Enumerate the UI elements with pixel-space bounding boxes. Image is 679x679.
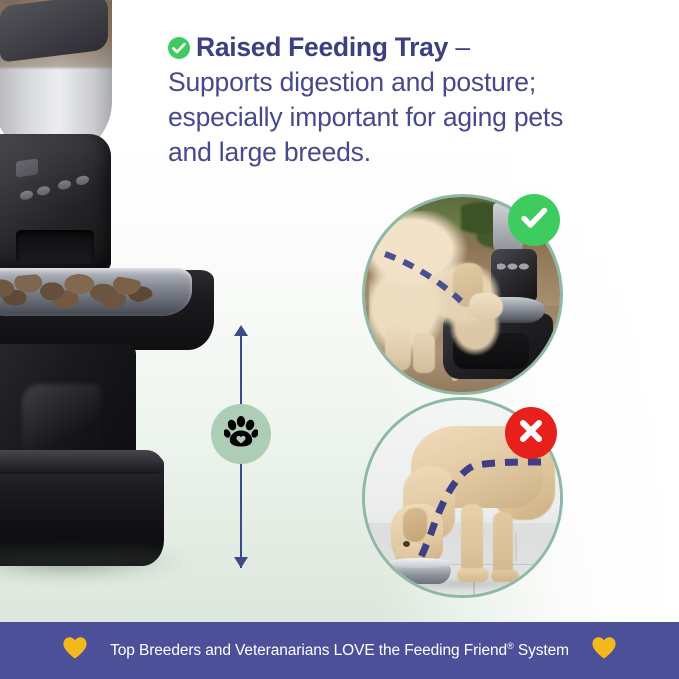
banner-text-after: System bbox=[514, 642, 569, 659]
endorsement-banner: Top Breeders and Veteranarians LOVE the … bbox=[0, 622, 679, 679]
headline-dash: – bbox=[448, 32, 470, 62]
paw-print-icon bbox=[224, 416, 258, 453]
arrow-head-down-icon bbox=[234, 557, 248, 568]
control-button bbox=[76, 175, 89, 186]
base-tray-lip bbox=[0, 450, 164, 474]
headline-body-text: Supports digestion and posture; especial… bbox=[168, 65, 588, 170]
headline-line: Raised Feeding Tray – bbox=[168, 30, 588, 64]
banner-text-before: Top Breeders and Veteranarians LOVE the … bbox=[110, 642, 507, 659]
lcd-display bbox=[16, 158, 38, 177]
dispenser-slot bbox=[16, 230, 94, 264]
check-circle-icon bbox=[168, 37, 190, 59]
heart-icon bbox=[591, 636, 617, 665]
control-button bbox=[20, 190, 33, 201]
status-badge-rejected bbox=[505, 407, 557, 459]
product-feature-graphic: Raised Feeding Tray – Supports digestion… bbox=[0, 0, 679, 679]
product-shadow bbox=[0, 548, 184, 582]
control-button bbox=[37, 185, 50, 196]
page-title: Raised Feeding Tray bbox=[196, 32, 448, 62]
x-icon bbox=[514, 414, 548, 453]
control-button bbox=[58, 179, 71, 190]
heart-icon bbox=[62, 636, 88, 665]
banner-text: Top Breeders and Veteranarians LOVE the … bbox=[110, 641, 569, 660]
status-badge-approved bbox=[508, 194, 560, 246]
check-icon bbox=[516, 200, 552, 241]
paw-print-badge bbox=[211, 404, 271, 464]
feature-headline-block: Raised Feeding Tray – Supports digestion… bbox=[168, 30, 588, 170]
